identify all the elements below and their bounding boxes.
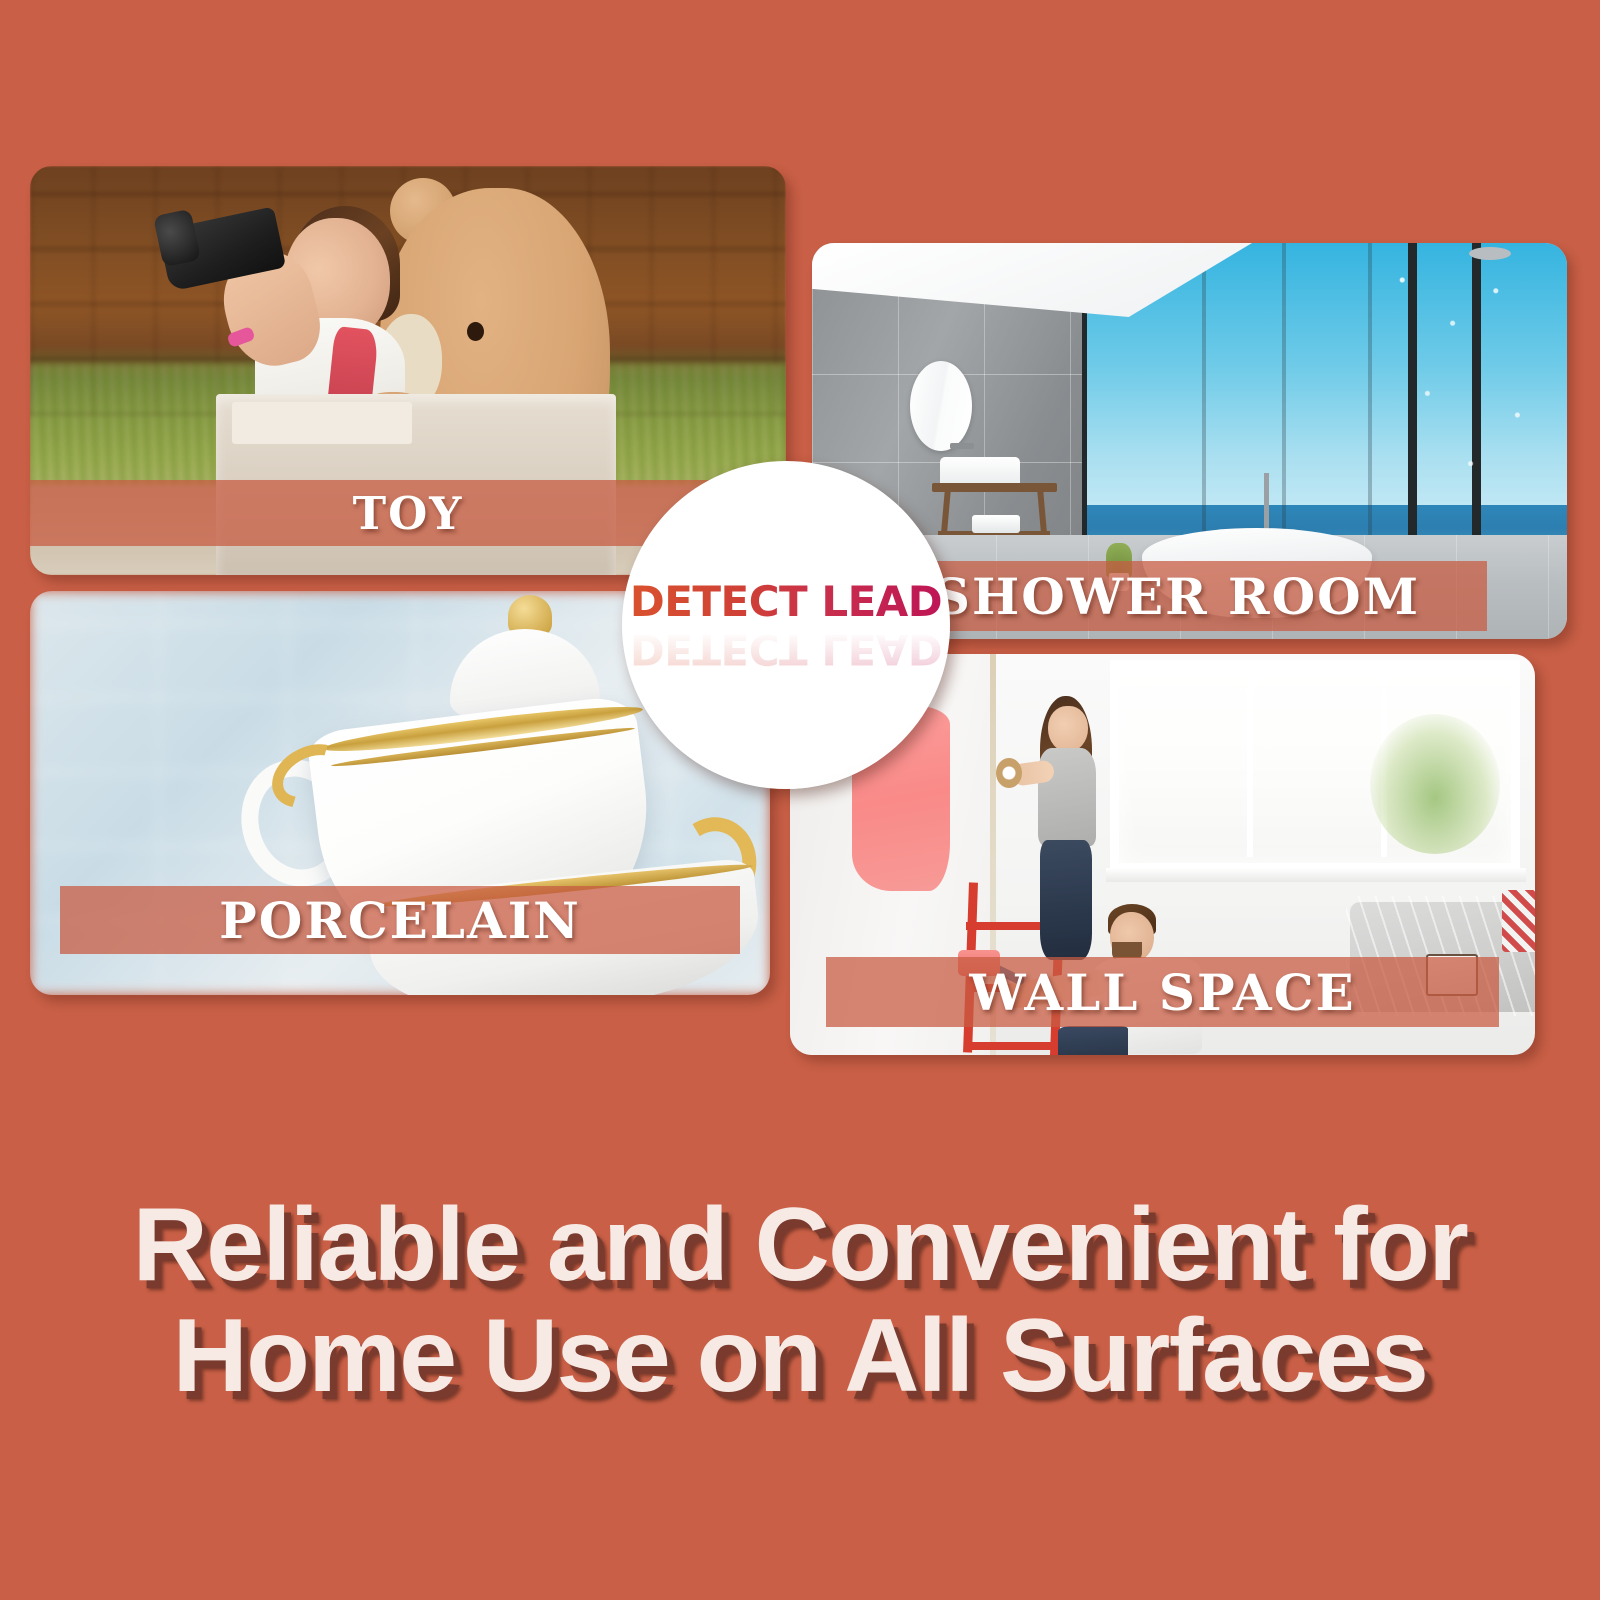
- window-mullion: [1282, 243, 1286, 539]
- oval-mirror: [910, 361, 972, 451]
- tree-outside-window: [1370, 714, 1500, 854]
- caption-band-shower-room: SHOWER ROOM: [867, 561, 1487, 631]
- water-droplets: [1377, 253, 1557, 523]
- teddy-bear-eye: [467, 322, 484, 341]
- checked-blanket: [1502, 890, 1535, 952]
- shower-head-icon: [1469, 247, 1511, 260]
- detect-lead-badge[interactable]: DETECT LEAD DETECT LEAD: [622, 461, 950, 789]
- window-mullion: [1202, 243, 1206, 539]
- folded-towels: [972, 515, 1020, 533]
- caption-band-wall-space: WALL SPACE: [826, 957, 1499, 1027]
- woman-jeans: [1040, 840, 1092, 960]
- window-divider: [1247, 675, 1253, 857]
- headline-line-2: Home Use on All Surfaces: [40, 1301, 1560, 1412]
- headline: Reliable and Convenient for Home Use on …: [0, 1190, 1600, 1413]
- badge-label-reflection: DETECT LEAD: [630, 628, 942, 670]
- headline-line-1: Reliable and Convenient for: [40, 1190, 1560, 1301]
- caption-label-toy: TOY: [353, 487, 464, 540]
- caption-band-porcelain: PORCELAIN: [60, 886, 740, 954]
- toy-box-interior: [232, 402, 412, 444]
- window-sill: [1106, 868, 1526, 882]
- caption-label-shower-room: SHOWER ROOM: [934, 567, 1420, 626]
- caption-label-wall-space: WALL SPACE: [969, 963, 1355, 1022]
- badge-label: DETECT LEAD: [630, 581, 942, 623]
- caption-label-porcelain: PORCELAIN: [219, 891, 581, 950]
- basin-faucet: [950, 443, 974, 449]
- man-jeans: [1058, 1026, 1128, 1055]
- woman-head: [1048, 706, 1088, 752]
- ladder-step: [966, 1042, 1062, 1050]
- masking-tape-roll: [996, 758, 1022, 788]
- tub-faucet: [1264, 473, 1269, 535]
- window-mullion: [1368, 243, 1372, 539]
